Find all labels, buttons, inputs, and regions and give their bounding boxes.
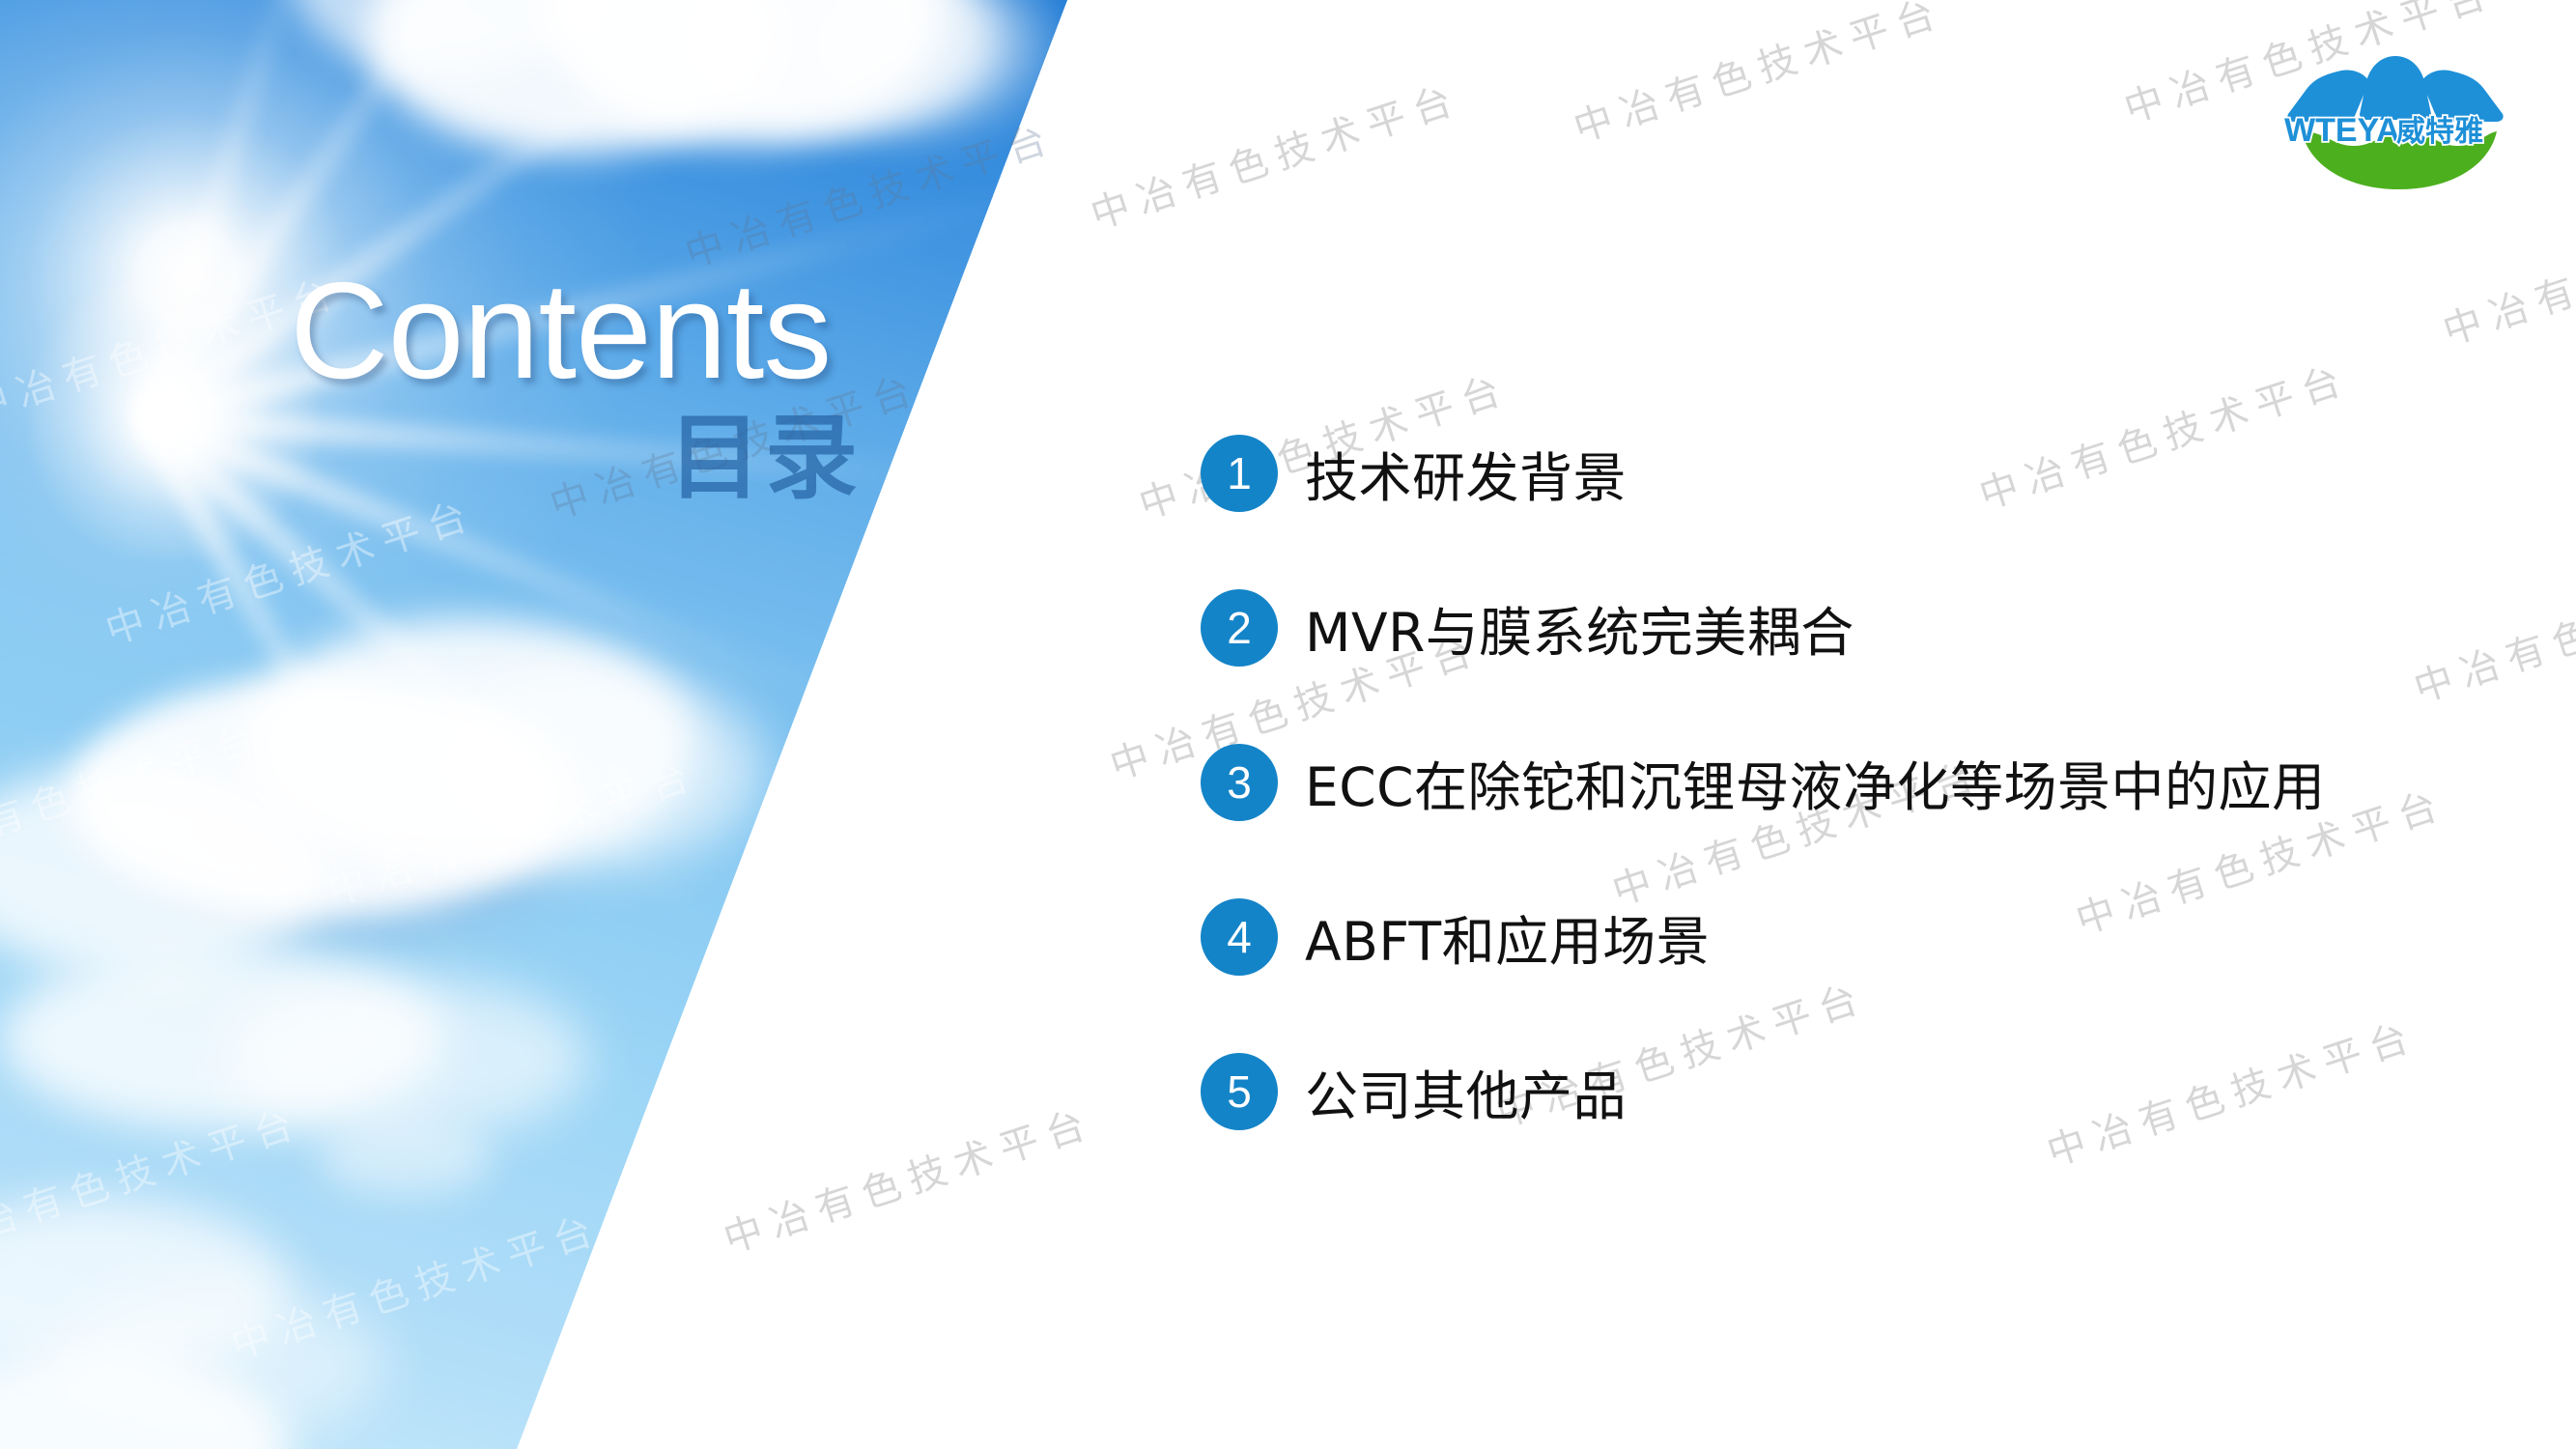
- list-item[interactable]: 4 ABFT和应用场景: [1201, 896, 2326, 978]
- logo-wordmark: WTEYA 威特雅: [2284, 112, 2483, 149]
- cloud: [319, 1121, 493, 1198]
- contents-list: 1 技术研发背景 2 MVR与膜系统完美耦合 3 ECC在除铊和沉锂母液净化等场…: [1201, 433, 2326, 1132]
- list-item[interactable]: 3 ECC在除铊和沉锂母液净化等场景中的应用: [1201, 742, 2326, 823]
- logo-brand-latin: WTEYA: [2284, 112, 2400, 149]
- sky-background-panel: [0, 0, 1159, 1449]
- item-number-badge: 2: [1201, 589, 1278, 667]
- title-block: Contents 目录: [290, 263, 966, 504]
- list-item-label: 公司其他产品: [1305, 1053, 1627, 1130]
- item-number-badge: 4: [1201, 898, 1278, 976]
- watermark-text: 中冶有色技术平台: [1566, 0, 1950, 153]
- list-item-label: ABFT和应用场景: [1305, 898, 1710, 976]
- cloud: [415, 667, 763, 869]
- list-item-label: ECC在除铊和沉锂母液净化等场景中的应用: [1305, 744, 2326, 821]
- page-subtitle: 目录: [290, 412, 966, 504]
- logo-brand-cn: 威特雅: [2396, 115, 2483, 149]
- list-item[interactable]: 2 MVR与膜系统完美耦合: [1201, 587, 2326, 668]
- cloud: [222, 976, 589, 1140]
- company-logo: WTEYA 威特雅: [2265, 35, 2526, 189]
- watermark-text: 中冶有色技术平台: [1083, 68, 1467, 241]
- list-item-label: 技术研发背景: [1305, 435, 1627, 512]
- sun-core: [29, 270, 319, 560]
- page-title: Contents: [290, 263, 966, 400]
- item-number-badge: 3: [1201, 744, 1278, 821]
- watermark-text: 中冶有色技术平台: [716, 1092, 1100, 1264]
- list-item[interactable]: 5 公司其他产品: [1201, 1051, 2326, 1132]
- item-number-badge: 1: [1201, 435, 1278, 512]
- list-item-label: MVR与膜系统完美耦合: [1305, 589, 1854, 667]
- watermark-text: 中冶有色技术平台: [2406, 541, 2576, 714]
- list-item[interactable]: 1 技术研发背景: [1201, 433, 2326, 514]
- watermark-text: 中冶有色技术平台: [2435, 184, 2576, 356]
- item-number-badge: 5: [1201, 1053, 1278, 1130]
- slide-root: 中冶有色技术平台 中冶有色技术平台 中冶有色技术平台 中冶有色技术平台 中冶有色…: [0, 0, 2576, 1449]
